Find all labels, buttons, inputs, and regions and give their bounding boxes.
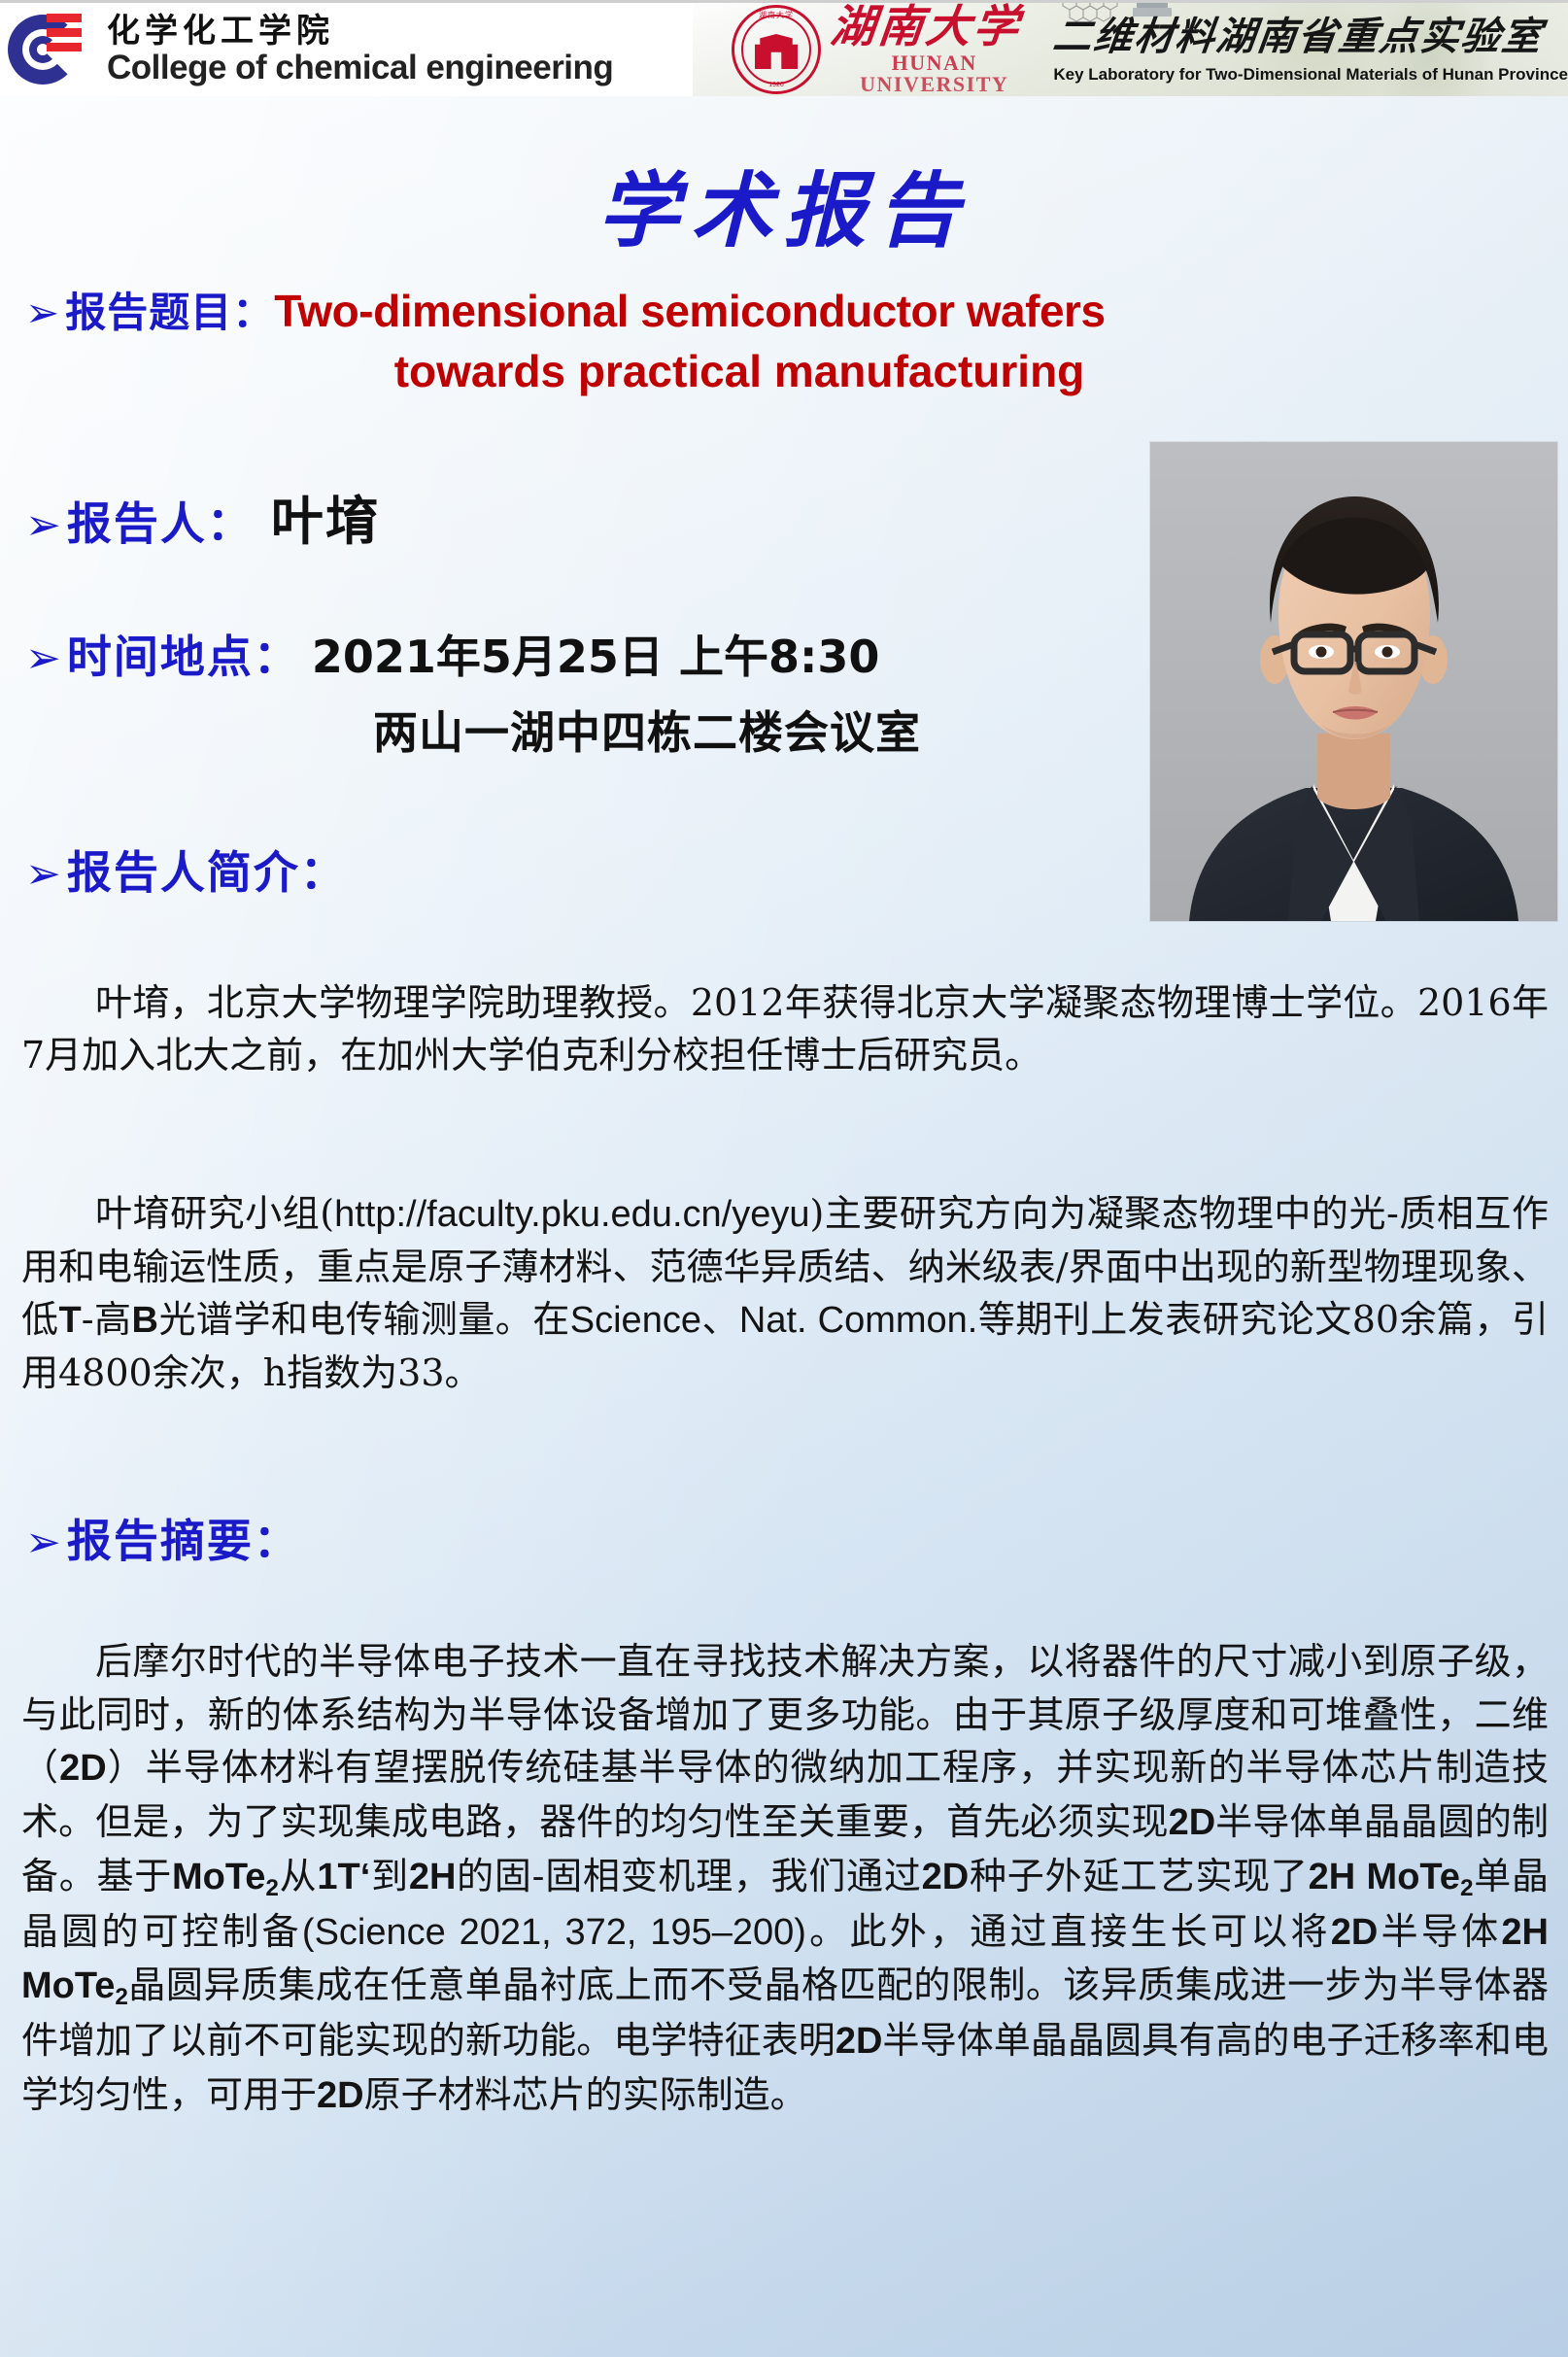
university-name-cn: 湖南大学	[829, 4, 1040, 49]
abs-term-2d: 2D	[317, 2075, 364, 2116]
arrow-bullet-icon: ➢	[25, 500, 61, 550]
college-name-cn: 化学化工学院	[107, 15, 613, 48]
seal-top-text: 湖南大学	[759, 10, 794, 20]
bio-paragraph-1: 叶堉，北京大学物理学院助理教授。2012年获得北京大学凝聚态物理博士学位。201…	[21, 977, 1549, 1082]
abstract-paragraph: 后摩尔时代的半导体电子技术一直在寻找技术解决方案，以将器件的尺寸减小到原子级，与…	[21, 1635, 1549, 2123]
bio-p2-prefix: 叶堉研究小组(	[95, 1192, 334, 1235]
time-place-row: ➢ 时间地点： 2021年5月25日 上午8:30 两山一湖中四栋二楼会议室	[25, 622, 921, 762]
arrow-bullet-icon: ➢	[25, 633, 61, 683]
abs-seg13: 原子材料芯片的实际制造。	[364, 2073, 807, 2116]
lab-name-cn: 二维材料湖南省重点实验室	[1051, 17, 1568, 56]
speaker-row: ➢ 报告人： 叶堉	[25, 478, 380, 555]
university-name-block: 湖南大学 HUNAN UNIVERSITY	[831, 4, 1038, 95]
page-title: 学术报告	[0, 146, 1568, 263]
time-place-label: 时间地点：	[67, 622, 300, 686]
header-banner: 化学化工学院 College of chemical engineering 湖…	[0, 0, 1568, 96]
abs-phase-2h: 2H	[409, 1857, 457, 1897]
abs-seg4: 从	[279, 1855, 318, 1897]
hunan-university-seal-icon: 湖南大学 1926	[732, 5, 821, 94]
speaker-portrait-photo	[1150, 442, 1557, 921]
poster-root: 化学化工学院 College of chemical engineering 湖…	[0, 0, 1568, 2357]
bio-paragraph-2: 叶堉研究小组(http://faculty.pku.edu.cn/yeyu)主要…	[21, 1188, 1549, 1400]
abs-formula-2h-mote2: 2H MoTe2	[1309, 1857, 1474, 1897]
abs-seg7: 种子外延工艺实现了	[969, 1855, 1308, 1897]
abs-citation: (Science 2021, 372, 195–200)	[302, 1912, 806, 1953]
seal-year: 1926	[768, 82, 784, 88]
abs-term-2d: 2D	[1331, 1912, 1379, 1953]
abstract-section-heading: ➢ 报告摘要：	[25, 1506, 300, 1570]
arrow-bullet-icon: ➢	[25, 292, 59, 333]
college-name-block: 化学化工学院 College of chemical engineering	[107, 15, 613, 85]
abs-formula-2h-mote2-sub: 2	[1460, 1875, 1474, 1901]
bio-p2-tsep: -高	[82, 1298, 132, 1341]
abs-seg10: 半导体	[1378, 1910, 1501, 1953]
talk-venue: 两山一湖中四栋二楼会议室	[373, 698, 921, 762]
speaker-label: 报告人：	[67, 489, 254, 553]
abs-phase-1t: 1T‘	[317, 1857, 370, 1897]
bio-journals: Science、Nat. Common.	[570, 1300, 978, 1341]
abs-term-2d: 2D	[1169, 1802, 1216, 1843]
arrow-bullet-icon: ➢	[25, 849, 61, 899]
bio-symbol-T: T	[58, 1300, 81, 1341]
talk-title-label: 报告题目：	[65, 280, 274, 339]
portrait-illustration	[1150, 442, 1557, 921]
university-name-en: HUNAN UNIVERSITY	[831, 52, 1038, 95]
college-logo-banner: 化学化工学院 College of chemical engineering	[0, 0, 693, 96]
abs-seg5: 到	[370, 1855, 409, 1897]
abstract-label: 报告摘要：	[67, 1506, 300, 1570]
abs-term-2d: 2D	[922, 1857, 970, 1897]
abs-term-2d: 2D	[835, 2021, 883, 2062]
bio-symbol-B: B	[132, 1300, 158, 1341]
abs-formula-2h-mote2-sub: 2	[115, 1984, 128, 2010]
bio-p2-mid2: 光谱学和电传输测量。在	[158, 1298, 570, 1341]
abs-seg6: 的固-固相变机理，我们通过	[456, 1855, 921, 1897]
abs-formula-mote2-sub: 2	[265, 1875, 279, 1901]
arrow-bullet-icon: ➢	[25, 1518, 61, 1567]
college-emblem-icon	[6, 9, 99, 90]
bio-label: 报告人简介：	[67, 837, 347, 902]
talk-title-row: ➢ 报告题目： Two-dimensional semiconductor wa…	[25, 280, 1551, 397]
abs-formula-mote2-base: MoTe	[172, 1857, 265, 1897]
talk-title-line1: Two-dimensional semiconductor wafers	[274, 285, 1105, 337]
abs-formula-mote2: MoTe2	[172, 1857, 279, 1897]
talk-title-line2: towards practical manufacturing	[25, 345, 1551, 397]
bio-group-url: http://faculty.pku.edu.cn/yeyu	[334, 1194, 809, 1235]
abs-seg9: 。此外，通过直接生长可以将	[806, 1910, 1331, 1953]
abs-term-2d: 2D	[59, 1748, 107, 1789]
university-lab-banner: 湖南大学 1926 湖南大学 HUNAN UNIVERSITY	[693, 0, 1568, 96]
lab-name-en: Key Laboratory for Two-Dimensional Mater…	[1053, 66, 1568, 83]
bio-section-heading: ➢ 报告人简介：	[25, 837, 347, 902]
speaker-name: 叶堉	[271, 478, 380, 555]
lab-name-block: 二维材料湖南省重点实验室 Key Laboratory for Two-Dime…	[1053, 17, 1568, 83]
abs-formula-2h-mote2-base: 2H MoTe	[1309, 1857, 1460, 1897]
talk-datetime: 2021年5月25日 上午8:30	[312, 622, 879, 686]
college-name-en: College of chemical engineering	[107, 51, 613, 85]
